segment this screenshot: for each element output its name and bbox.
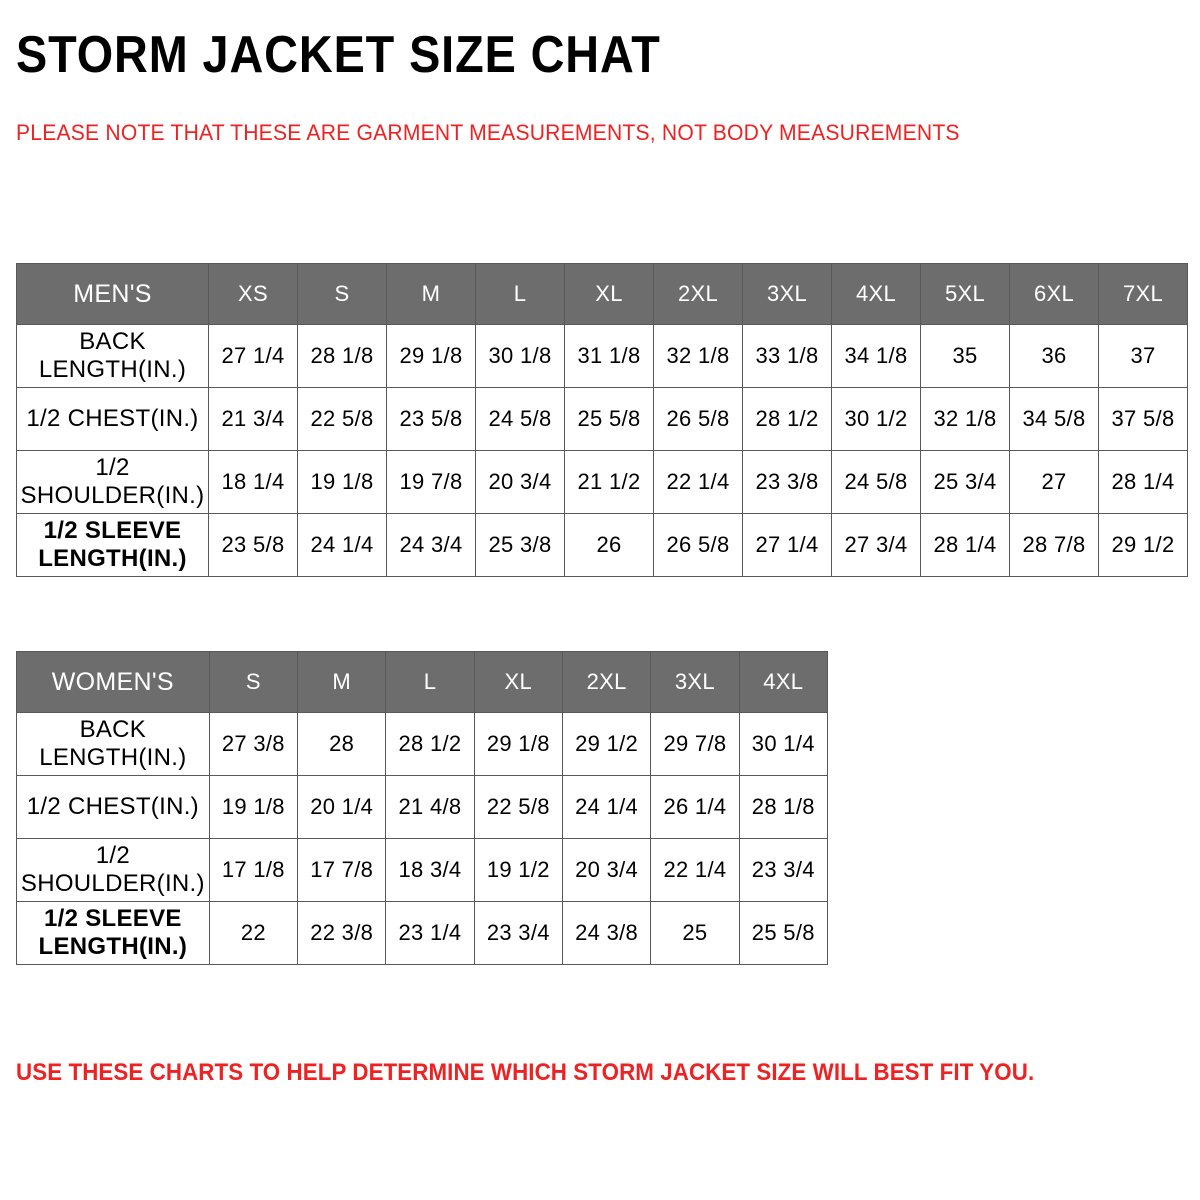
mens-size-header-3xl: 3XL bbox=[743, 264, 832, 325]
cell: 19 1/2 bbox=[474, 839, 562, 902]
mens-size-header-m: M bbox=[387, 264, 476, 325]
cell: 34 1/8 bbox=[832, 325, 921, 388]
cell: 37 bbox=[1099, 325, 1188, 388]
womens-size-header-2xl: 2XL bbox=[562, 652, 650, 713]
cell: 21 4/8 bbox=[386, 776, 474, 839]
cell: 37 5/8 bbox=[1099, 388, 1188, 451]
table-row: BACK LENGTH(IN.) 27 3/8 28 28 1/2 29 1/8… bbox=[17, 713, 828, 776]
cell: 27 1/4 bbox=[743, 514, 832, 577]
table-row: 1/2 SHOULDER(IN.) 17 1/8 17 7/8 18 3/4 1… bbox=[17, 839, 828, 902]
mens-table-body: BACK LENGTH(IN.) 27 1/4 28 1/8 29 1/8 30… bbox=[17, 325, 1188, 577]
cell: 22 1/4 bbox=[654, 451, 743, 514]
cell: 18 3/4 bbox=[386, 839, 474, 902]
womens-size-header-m: M bbox=[298, 652, 386, 713]
cell: 33 1/8 bbox=[743, 325, 832, 388]
cell: 28 1/8 bbox=[298, 325, 387, 388]
cell: 29 1/2 bbox=[1099, 514, 1188, 577]
cell: 36 bbox=[1010, 325, 1099, 388]
womens-row-label-half-chest: 1/2 CHEST(IN.) bbox=[17, 776, 210, 839]
womens-header-row: WOMEN'S S M L XL 2XL 3XL 4XL bbox=[17, 652, 828, 713]
mens-size-header-xs: XS bbox=[209, 264, 298, 325]
cell: 25 3/4 bbox=[921, 451, 1010, 514]
row-label-line-1: 1/2 SLEEVE bbox=[44, 517, 182, 544]
cell: 17 7/8 bbox=[298, 839, 386, 902]
cell: 28 1/4 bbox=[1099, 451, 1188, 514]
cell: 25 5/8 bbox=[565, 388, 654, 451]
row-label-line-1: BACK bbox=[79, 328, 146, 355]
womens-table-body: BACK LENGTH(IN.) 27 3/8 28 28 1/2 29 1/8… bbox=[17, 713, 828, 965]
table-row: 1/2 SLEEVE LENGTH(IN.) 23 5/8 24 1/4 24 … bbox=[17, 514, 1188, 577]
womens-size-header-4xl: 4XL bbox=[739, 652, 827, 713]
womens-corner-label: WOMEN'S bbox=[17, 652, 210, 713]
cell: 24 3/8 bbox=[562, 902, 650, 965]
cell: 21 1/2 bbox=[565, 451, 654, 514]
cell: 21 3/4 bbox=[209, 388, 298, 451]
cell: 20 3/4 bbox=[562, 839, 650, 902]
cell: 19 7/8 bbox=[387, 451, 476, 514]
cell: 30 1/8 bbox=[476, 325, 565, 388]
cell: 22 5/8 bbox=[298, 388, 387, 451]
cell: 27 3/8 bbox=[209, 713, 297, 776]
womens-size-table: WOMEN'S S M L XL 2XL 3XL 4XL BACK LENGTH… bbox=[16, 651, 828, 965]
mens-header-row: MEN'S XS S M L XL 2XL 3XL 4XL 5XL 6XL 7X… bbox=[17, 264, 1188, 325]
row-label-line-2: LENGTH(IN.) bbox=[39, 933, 188, 960]
mens-size-header-s: S bbox=[298, 264, 387, 325]
row-label-line-1: 1/2 SLEEVE bbox=[44, 905, 182, 932]
cell: 27 1/4 bbox=[209, 325, 298, 388]
row-label-line-2: LENGTH(IN.) bbox=[39, 356, 186, 383]
cell: 34 5/8 bbox=[1010, 388, 1099, 451]
cell: 22 3/8 bbox=[298, 902, 386, 965]
mens-corner-label: MEN'S bbox=[17, 264, 209, 325]
garment-measurement-note: PLEASE NOTE THAT THESE ARE GARMENT MEASU… bbox=[16, 118, 976, 148]
womens-size-header-s: S bbox=[209, 652, 297, 713]
cell: 26 1/4 bbox=[651, 776, 739, 839]
cell: 28 1/4 bbox=[921, 514, 1010, 577]
mens-size-header-l: L bbox=[476, 264, 565, 325]
table-row: 1/2 SLEEVE LENGTH(IN.) 22 22 3/8 23 1/4 … bbox=[17, 902, 828, 965]
cell: 29 7/8 bbox=[651, 713, 739, 776]
cell: 35 bbox=[921, 325, 1010, 388]
mens-size-header-7xl: 7XL bbox=[1099, 264, 1188, 325]
cell: 32 1/8 bbox=[921, 388, 1010, 451]
row-label-line-2: LENGTH(IN.) bbox=[39, 744, 186, 771]
womens-row-label-half-sleeve-length: 1/2 SLEEVE LENGTH(IN.) bbox=[17, 902, 210, 965]
cell: 28 1/8 bbox=[739, 776, 827, 839]
cell: 29 1/8 bbox=[387, 325, 476, 388]
cell: 20 1/4 bbox=[298, 776, 386, 839]
womens-row-label-back-length: BACK LENGTH(IN.) bbox=[17, 713, 210, 776]
cell: 19 1/8 bbox=[298, 451, 387, 514]
cell: 28 bbox=[298, 713, 386, 776]
mens-table-head: MEN'S XS S M L XL 2XL 3XL 4XL 5XL 6XL 7X… bbox=[17, 264, 1188, 325]
womens-table-head: WOMEN'S S M L XL 2XL 3XL 4XL bbox=[17, 652, 828, 713]
cell: 31 1/8 bbox=[565, 325, 654, 388]
cell: 28 7/8 bbox=[1010, 514, 1099, 577]
mens-size-table: MEN'S XS S M L XL 2XL 3XL 4XL 5XL 6XL 7X… bbox=[16, 263, 1188, 577]
cell: 19 1/8 bbox=[209, 776, 297, 839]
cell: 23 3/4 bbox=[474, 902, 562, 965]
cell: 22 1/4 bbox=[651, 839, 739, 902]
cell: 29 1/2 bbox=[562, 713, 650, 776]
cell: 18 1/4 bbox=[209, 451, 298, 514]
cell: 23 3/4 bbox=[739, 839, 827, 902]
cell: 29 1/8 bbox=[474, 713, 562, 776]
cell: 26 bbox=[565, 514, 654, 577]
mens-size-header-xl: XL bbox=[565, 264, 654, 325]
womens-size-header-xl: XL bbox=[474, 652, 562, 713]
table-row: BACK LENGTH(IN.) 27 1/4 28 1/8 29 1/8 30… bbox=[17, 325, 1188, 388]
mens-size-header-6xl: 6XL bbox=[1010, 264, 1099, 325]
cell: 24 1/4 bbox=[562, 776, 650, 839]
mens-row-label-half-shoulder: 1/2 SHOULDER(IN.) bbox=[17, 451, 209, 514]
cell: 25 bbox=[651, 902, 739, 965]
chart-usage-note: USE THESE CHARTS TO HELP DETERMINE WHICH… bbox=[16, 1058, 1095, 1088]
womens-size-header-l: L bbox=[386, 652, 474, 713]
row-label-line-1: BACK bbox=[80, 716, 147, 743]
cell: 22 bbox=[209, 902, 297, 965]
mens-size-header-2xl: 2XL bbox=[654, 264, 743, 325]
womens-row-label-half-shoulder: 1/2 SHOULDER(IN.) bbox=[17, 839, 210, 902]
mens-row-label-half-chest: 1/2 CHEST(IN.) bbox=[17, 388, 209, 451]
cell: 24 1/4 bbox=[298, 514, 387, 577]
womens-size-header-3xl: 3XL bbox=[651, 652, 739, 713]
cell: 27 3/4 bbox=[832, 514, 921, 577]
row-label-line-2: LENGTH(IN.) bbox=[38, 545, 187, 572]
mens-row-label-half-sleeve-length: 1/2 SLEEVE LENGTH(IN.) bbox=[17, 514, 209, 577]
cell: 17 1/8 bbox=[209, 839, 297, 902]
table-row: 1/2 CHEST(IN.) 19 1/8 20 1/4 21 4/8 22 5… bbox=[17, 776, 828, 839]
mens-size-header-4xl: 4XL bbox=[832, 264, 921, 325]
cell: 32 1/8 bbox=[654, 325, 743, 388]
table-row: 1/2 CHEST(IN.) 21 3/4 22 5/8 23 5/8 24 5… bbox=[17, 388, 1188, 451]
cell: 30 1/2 bbox=[832, 388, 921, 451]
cell: 26 5/8 bbox=[654, 388, 743, 451]
cell: 30 1/4 bbox=[739, 713, 827, 776]
cell: 23 5/8 bbox=[387, 388, 476, 451]
cell: 20 3/4 bbox=[476, 451, 565, 514]
cell: 23 5/8 bbox=[209, 514, 298, 577]
mens-size-header-5xl: 5XL bbox=[921, 264, 1010, 325]
cell: 25 5/8 bbox=[739, 902, 827, 965]
cell: 23 3/8 bbox=[743, 451, 832, 514]
mens-row-label-back-length: BACK LENGTH(IN.) bbox=[17, 325, 209, 388]
cell: 24 5/8 bbox=[832, 451, 921, 514]
cell: 24 5/8 bbox=[476, 388, 565, 451]
table-row: 1/2 SHOULDER(IN.) 18 1/4 19 1/8 19 7/8 2… bbox=[17, 451, 1188, 514]
cell: 24 3/4 bbox=[387, 514, 476, 577]
cell: 28 1/2 bbox=[386, 713, 474, 776]
cell: 26 5/8 bbox=[654, 514, 743, 577]
cell: 25 3/8 bbox=[476, 514, 565, 577]
cell: 27 bbox=[1010, 451, 1099, 514]
size-chart-page: STORM JACKET SIZE CHAT PLEASE NOTE THAT … bbox=[0, 0, 1200, 1200]
cell: 22 5/8 bbox=[474, 776, 562, 839]
cell: 28 1/2 bbox=[743, 388, 832, 451]
cell: 23 1/4 bbox=[386, 902, 474, 965]
page-title: STORM JACKET SIZE CHAT bbox=[16, 26, 661, 84]
